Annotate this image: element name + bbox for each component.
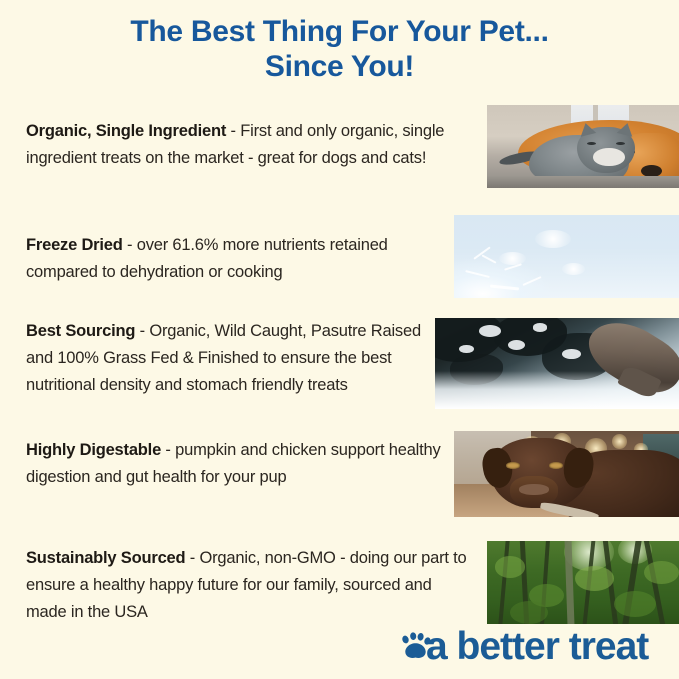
photo-frost-ice (454, 215, 679, 298)
feature-title: Organic, Single Ingredient (26, 122, 226, 140)
page-title: The Best Thing For Your Pet... Since You… (0, 0, 679, 84)
photo-salmon-in-rapids (435, 318, 679, 409)
photo-forest-canopy (487, 541, 679, 624)
feature-title: Highly Digestable (26, 441, 161, 459)
feature-separator: - (161, 441, 175, 459)
feature-best-sourcing: Best Sourcing - Organic, Wild Caught, Pa… (26, 318, 426, 399)
feature-separator: - (123, 236, 137, 254)
paw-print-icon (398, 630, 432, 664)
headline-line-2: Since You! (0, 49, 679, 84)
feature-organic-single-ingredient: Organic, Single Ingredient - First and o… (26, 118, 456, 172)
feature-separator: - (226, 122, 240, 140)
brand-logo[interactable]: a better treat (398, 627, 648, 666)
feature-title: Sustainably Sourced (26, 549, 185, 567)
feature-title: Freeze Dried (26, 236, 123, 254)
feature-sustainably-sourced: Sustainably Sourced - Organic, non-GMO -… (26, 545, 471, 626)
headline-line-1: The Best Thing For Your Pet... (0, 14, 679, 49)
feature-separator: - (135, 322, 149, 340)
feature-separator: - (185, 549, 199, 567)
feature-title: Best Sourcing (26, 322, 135, 340)
brand-name: a better treat (426, 627, 648, 666)
feature-highly-digestable: Highly Digestable - pumpkin and chicken … (26, 437, 446, 491)
feature-freeze-dried: Freeze Dried - over 61.6% more nutrients… (26, 232, 446, 286)
photo-cat-and-golden-retriever (487, 105, 679, 188)
photo-chocolate-labrador (454, 431, 679, 517)
